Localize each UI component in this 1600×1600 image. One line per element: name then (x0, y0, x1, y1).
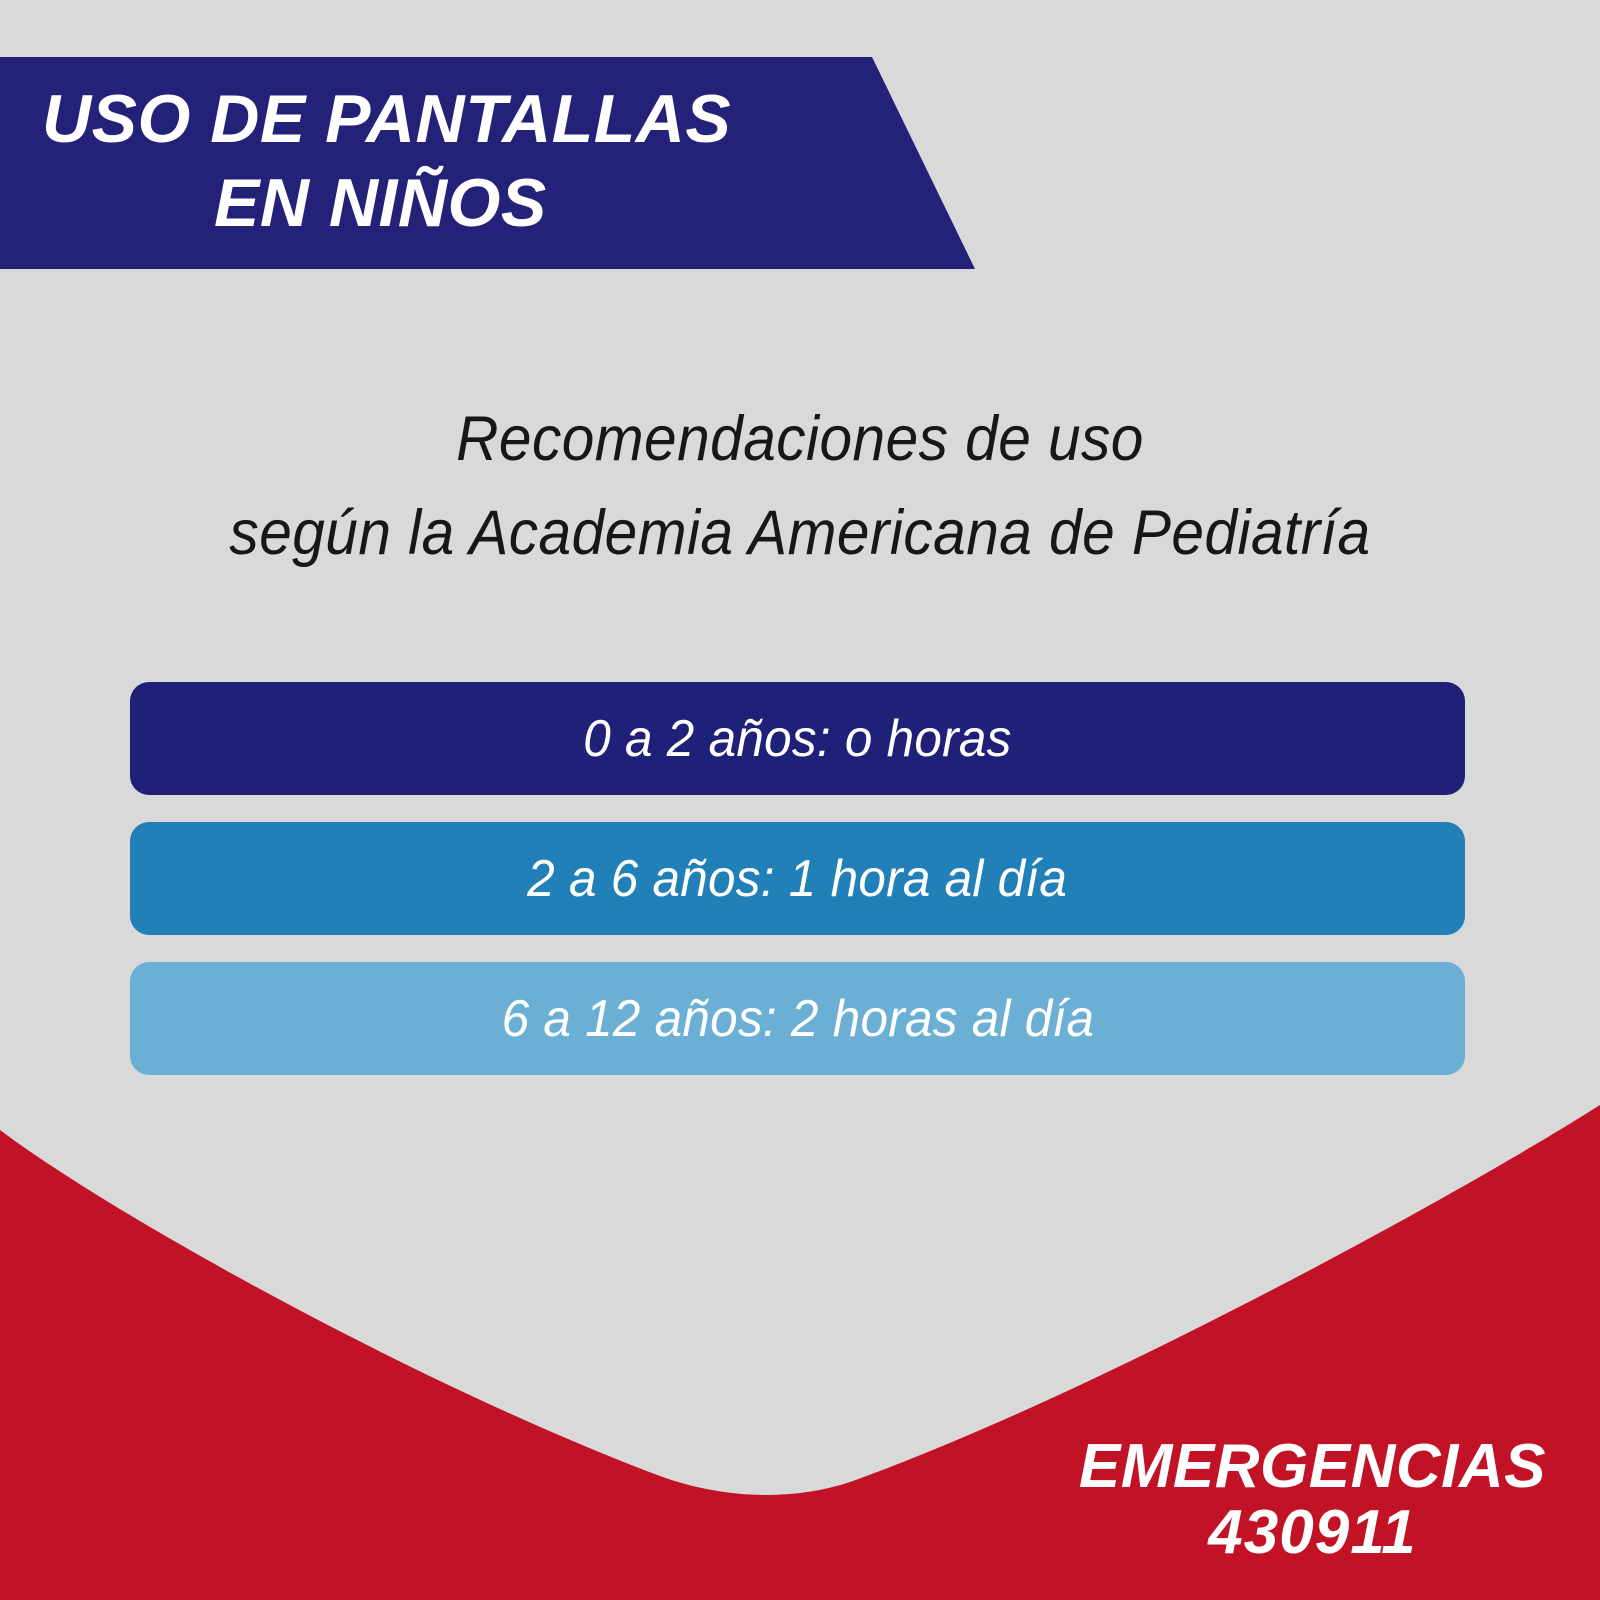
subtitle: Recomendaciones de uso según la Academia… (0, 392, 1600, 580)
recommendation-bars: 0 a 2 años: o horas 2 a 6 años: 1 hora a… (130, 682, 1465, 1075)
subtitle-line-1: Recomendaciones de uso (56, 392, 1544, 486)
emergency-contact: EMERGENCIAS 430911 (1079, 1434, 1546, 1566)
recommendation-bar-2-6: 2 a 6 años: 1 hora al día (130, 822, 1465, 935)
recommendation-bar-0-2: 0 a 2 años: o horas (130, 682, 1465, 795)
header-banner: USO DE PANTALLAS EN NIÑOS (0, 57, 980, 269)
title-line-2: EN NIÑOS (214, 169, 547, 237)
emergency-phone-number: 430911 (1079, 1500, 1546, 1566)
poster-canvas: USO DE PANTALLAS EN NIÑOS Recomendacione… (0, 0, 1600, 1600)
recommendation-label-0-2: 0 a 2 años: o horas (583, 709, 1011, 769)
title-line-1: USO DE PANTALLAS (42, 85, 731, 153)
recommendation-label-6-12: 6 a 12 años: 2 horas al día (501, 989, 1094, 1049)
recommendation-label-2-6: 2 a 6 años: 1 hora al día (528, 849, 1068, 909)
subtitle-line-2: según la Academia Americana de Pediatría (56, 486, 1544, 580)
recommendation-bar-6-12: 6 a 12 años: 2 horas al día (130, 962, 1465, 1075)
emergency-label: EMERGENCIAS (1079, 1434, 1546, 1500)
header-title: USO DE PANTALLAS EN NIÑOS (0, 57, 900, 269)
